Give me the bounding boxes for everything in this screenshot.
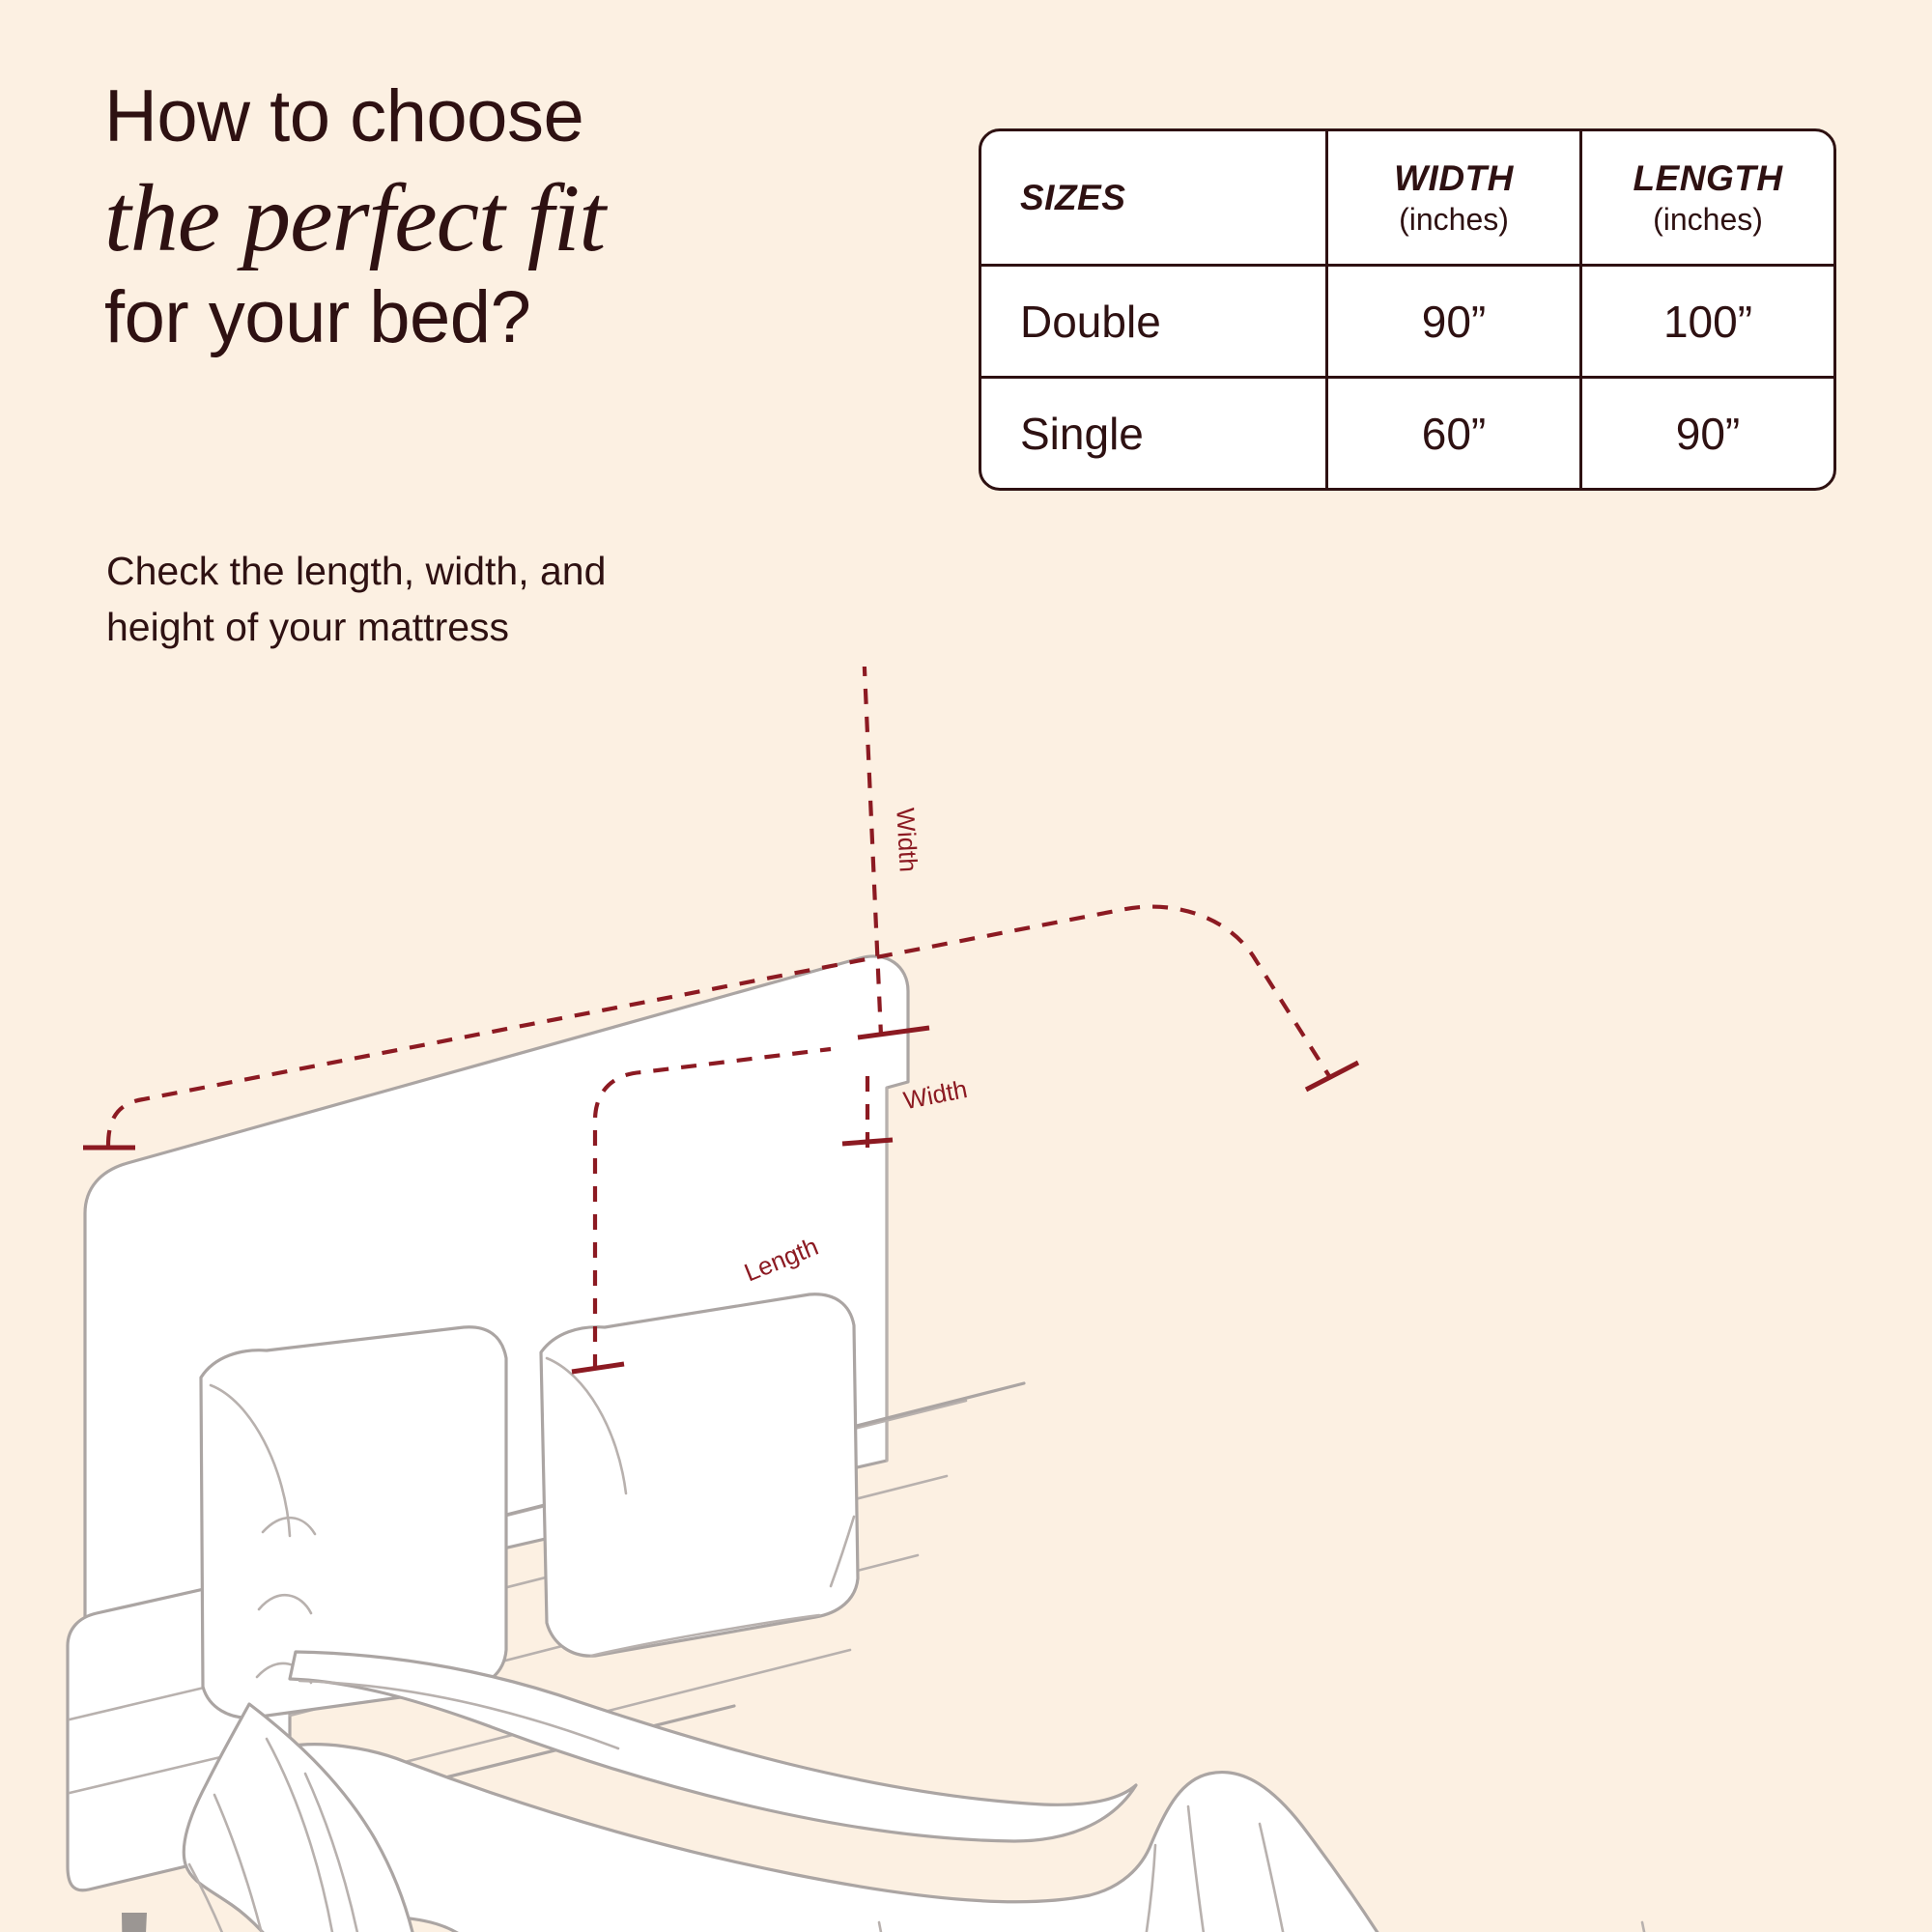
table-header-width-unit: (inches) — [1399, 200, 1509, 239]
table-cell-size-length: 90” — [1579, 379, 1833, 488]
page-subtitle-line-2: height of your mattress — [106, 599, 782, 655]
dimension-label-mattress-width: Width — [901, 1074, 970, 1115]
table-cell-size-width: 90” — [1325, 267, 1579, 376]
size-chart-table: SIZES WIDTH (inches) LENGTH (inches) Dou… — [979, 128, 1836, 491]
page-title-line-3: for your bed? — [104, 276, 916, 359]
bed-illustration: .ln { fill:none; stroke:#ABA5A3; stroke-… — [0, 667, 1932, 1932]
table-header-sizes-label: SIZES — [1020, 177, 1125, 219]
table-cell-size-width: 60” — [1325, 379, 1579, 488]
table-cell-size-name: Single — [981, 379, 1325, 488]
page-title: How to choose the perfect fit for your b… — [104, 75, 916, 359]
table-cell-size-name: Double — [981, 267, 1325, 376]
dimension-label-pillow-width: Width — [891, 808, 923, 873]
table-row: Single 60” 90” — [981, 376, 1833, 488]
table-header-row: SIZES WIDTH (inches) LENGTH (inches) — [981, 131, 1833, 264]
table-header-cell-width: WIDTH (inches) — [1325, 131, 1579, 264]
page-subtitle-line-1: Check the length, width, and — [106, 543, 782, 599]
table-header-width-label: WIDTH — [1394, 157, 1514, 200]
table-header-length-label: LENGTH — [1633, 157, 1782, 200]
table-header-cell-length: LENGTH (inches) — [1579, 131, 1833, 264]
infographic-page: How to choose the perfect fit for your b… — [0, 0, 1932, 1932]
table-header-length-unit: (inches) — [1653, 200, 1763, 239]
table-cell-size-length: 100” — [1579, 267, 1833, 376]
table-header-cell-sizes: SIZES — [981, 131, 1325, 264]
page-title-line-1: How to choose — [104, 75, 916, 158]
pillow-front-right — [541, 1294, 858, 1656]
bed-leg — [122, 1913, 147, 1932]
table-row: Double 90” 100” — [981, 264, 1833, 376]
page-title-line-2: the perfect fit — [104, 164, 916, 272]
page-subtitle: Check the length, width, and height of y… — [106, 543, 782, 655]
